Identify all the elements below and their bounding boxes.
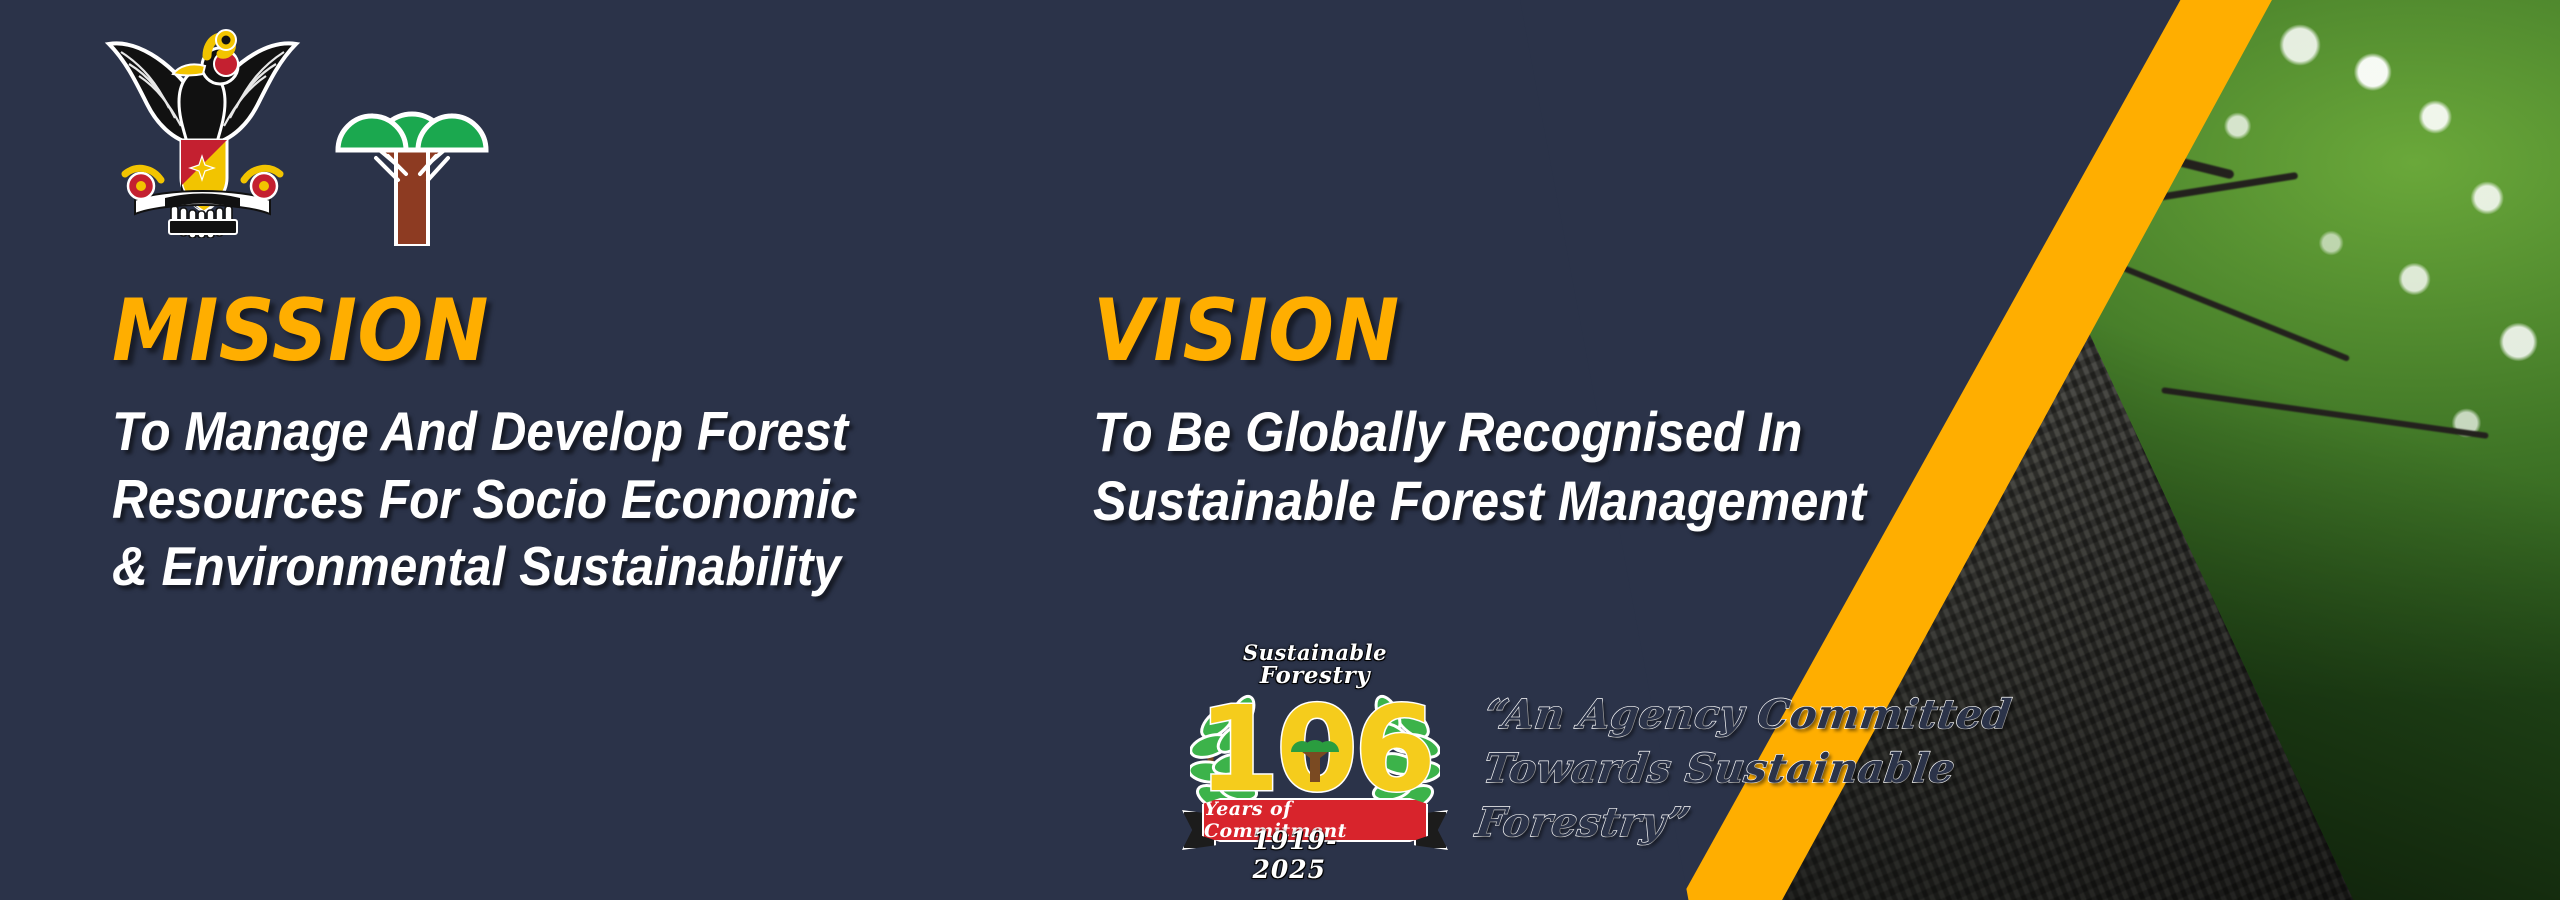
- branch-icon: [1719, 0, 1931, 139]
- badge-years: 1919-2025: [1253, 826, 1378, 884]
- vision-heading: VISION: [1093, 288, 2053, 374]
- badge-top-line-1: Sustainable: [1200, 642, 1430, 664]
- mission-line-1: To Manage And Develop Forest: [112, 398, 949, 466]
- tagline-line-2: Towards Sustainable Forestry”: [1467, 742, 2102, 850]
- mission-block: MISSION To Manage And Develop Forest Res…: [112, 288, 1042, 601]
- anniversary-badge: Sustainable Forestry 106 Years of Commit…: [1190, 638, 1440, 888]
- mission-line-2: Resources For Socio Economic: [112, 466, 949, 534]
- vision-line-2: Sustainable Forest Management: [1093, 467, 1957, 536]
- tagline: “An Agency Committed Towards Sustainable…: [1467, 688, 2110, 850]
- vision-text: To Be Globally Recognised In Sustainable…: [1093, 398, 2053, 536]
- sarawak-crest-icon: [95, 18, 310, 238]
- mission-line-3: & Environmental Sustainability: [112, 533, 949, 601]
- vision-block: VISION To Be Globally Recognised In Sust…: [1093, 288, 2053, 536]
- mission-vision-banner: MISSION To Manage And Develop Forest Res…: [0, 0, 2560, 900]
- forest-tree-logo-icon: [332, 46, 492, 246]
- logo-group: [95, 18, 492, 246]
- mission-heading: MISSION: [112, 288, 1042, 374]
- mission-text: To Manage And Develop Forest Resources F…: [112, 398, 1042, 601]
- vision-line-1: To Be Globally Recognised In: [1093, 398, 1957, 467]
- tagline-line-1: “An Agency Committed: [1482, 688, 2110, 742]
- badge-tree-icon: [1289, 726, 1341, 784]
